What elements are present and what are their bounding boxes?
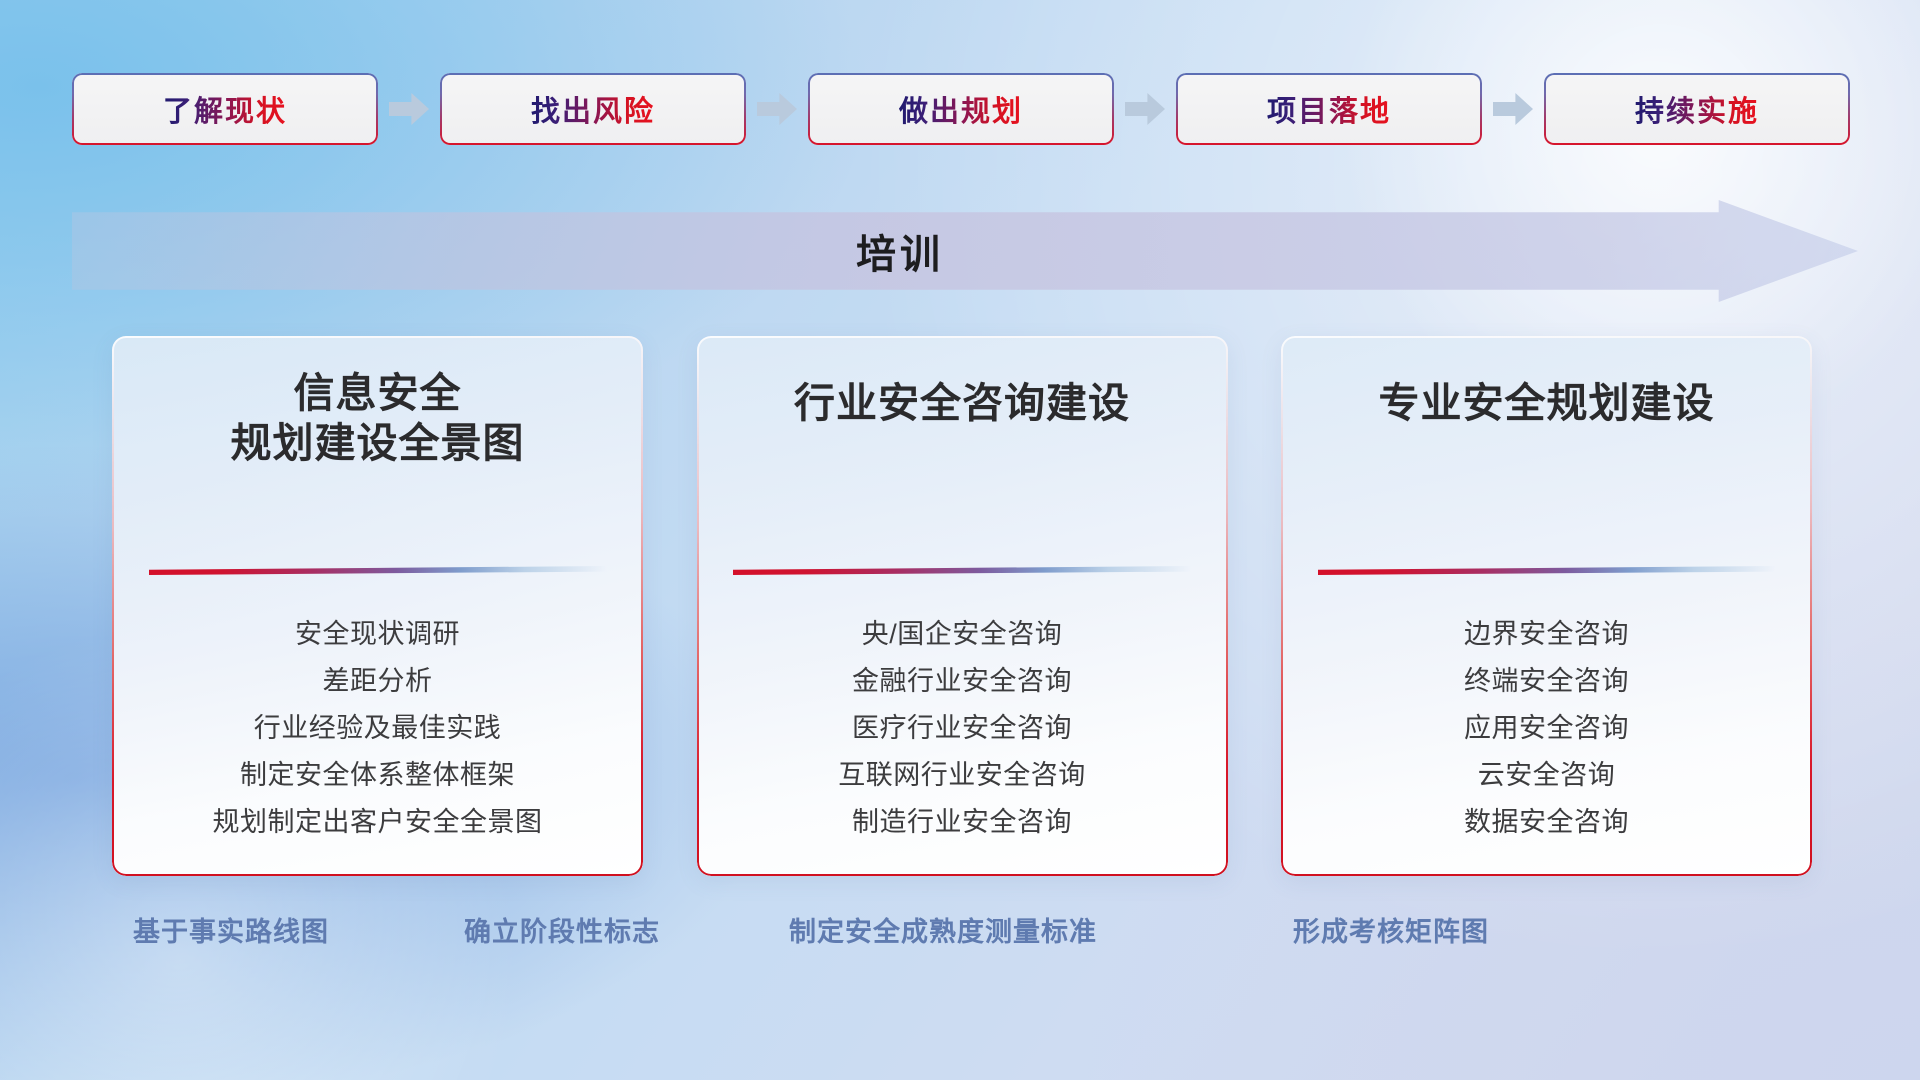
card-3[interactable]: 专业安全规划建设 边界安全咨询 终端安全咨询 应用安全咨询 云安全咨询 数据安全…	[1281, 336, 1812, 876]
card-title: 专业安全规划建设	[1281, 378, 1812, 428]
step-arrow-icon-1	[378, 86, 440, 132]
card-item-list: 边界安全咨询 终端安全咨询 应用安全咨询 云安全咨询 数据安全咨询	[1281, 611, 1812, 846]
step-label: 项目落地	[1267, 88, 1391, 130]
step-label: 找出风险	[531, 88, 655, 130]
footnote-label-2: 确立阶段性标志	[464, 910, 660, 949]
list-item: 差距分析	[134, 658, 621, 705]
list-item: 央/国企安全咨询	[719, 611, 1206, 658]
step-box-4[interactable]: 项目落地	[1176, 73, 1482, 145]
footnote-label-3: 制定安全成熟度测量标准	[789, 910, 1097, 949]
footnote-label-4: 形成考核矩阵图	[1293, 910, 1489, 949]
list-item: 互联网行业安全咨询	[719, 752, 1206, 799]
step-arrow-icon-2	[746, 86, 808, 132]
list-item: 安全现状调研	[134, 611, 621, 658]
card-divider	[149, 566, 607, 575]
step-label: 持续实施	[1635, 88, 1759, 130]
step-arrow-icon-4	[1482, 86, 1544, 132]
list-item: 应用安全咨询	[1303, 705, 1790, 752]
card-row: 信息安全 规划建设全景图 安全现状调研 差距分析 行业经验及最佳实践 制定安全体…	[112, 336, 1812, 876]
step-label: 做出规划	[899, 88, 1023, 130]
card-divider	[1318, 566, 1776, 575]
training-banner: 培训	[72, 200, 1858, 302]
card-2[interactable]: 行业安全咨询建设 央/国企安全咨询 金融行业安全咨询 医疗行业安全咨询 互联网行…	[697, 336, 1228, 876]
list-item: 终端安全咨询	[1303, 658, 1790, 705]
card-divider	[733, 566, 1191, 575]
slide-canvas: 了解现状 找出风险 做出规划 项目落地 持续实施 培训 信息安全 规划建设全景图…	[0, 0, 1920, 1080]
banner-title: 培训	[72, 200, 1858, 302]
list-item: 制造行业安全咨询	[719, 799, 1206, 846]
step-box-1[interactable]: 了解现状	[72, 73, 378, 145]
card-title: 行业安全咨询建设	[697, 378, 1228, 428]
list-item: 金融行业安全咨询	[719, 658, 1206, 705]
footnote-label-1: 基于事实路线图	[133, 910, 329, 949]
step-box-2[interactable]: 找出风险	[440, 73, 746, 145]
list-item: 规划制定出客户安全全景图	[134, 799, 621, 846]
process-step-flow: 了解现状 找出风险 做出规划 项目落地 持续实施	[72, 73, 1848, 145]
step-box-3[interactable]: 做出规划	[808, 73, 1114, 145]
card-item-list: 央/国企安全咨询 金融行业安全咨询 医疗行业安全咨询 互联网行业安全咨询 制造行…	[697, 611, 1228, 846]
card-title: 信息安全 规划建设全景图	[112, 368, 643, 468]
list-item: 医疗行业安全咨询	[719, 705, 1206, 752]
list-item: 边界安全咨询	[1303, 611, 1790, 658]
step-box-5[interactable]: 持续实施	[1544, 73, 1850, 145]
card-item-list: 安全现状调研 差距分析 行业经验及最佳实践 制定安全体系整体框架 规划制定出客户…	[112, 611, 643, 846]
list-item: 行业经验及最佳实践	[134, 705, 621, 752]
step-label: 了解现状	[163, 88, 287, 130]
card-1[interactable]: 信息安全 规划建设全景图 安全现状调研 差距分析 行业经验及最佳实践 制定安全体…	[112, 336, 643, 876]
list-item: 制定安全体系整体框架	[134, 752, 621, 799]
footnote-row: 基于事实路线图 确立阶段性标志 制定安全成熟度测量标准 形成考核矩阵图	[0, 910, 1920, 970]
list-item: 云安全咨询	[1303, 752, 1790, 799]
list-item: 数据安全咨询	[1303, 799, 1790, 846]
step-arrow-icon-3	[1114, 86, 1176, 132]
